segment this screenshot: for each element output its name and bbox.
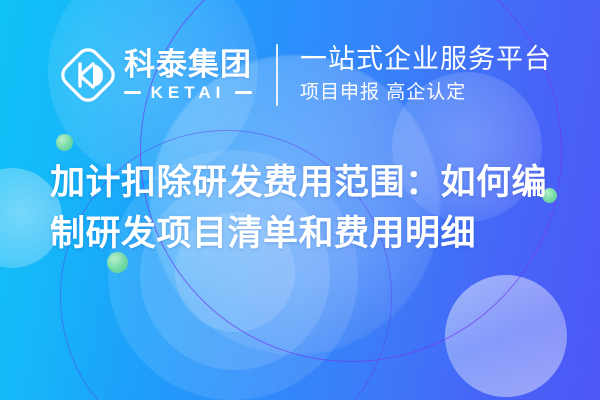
tagline-main: 一站式企业服务平台: [300, 44, 552, 76]
banner-header: 科泰集团 KETAI 一站式企业服务平台 项目申报 高企认定: [58, 44, 552, 106]
decorative-circle-bottom-right: [445, 275, 567, 397]
brand-name-en: KETAI: [146, 84, 230, 101]
promo-banner: 科泰集团 KETAI 一站式企业服务平台 项目申报 高企认定 加计扣除研发费用范…: [0, 0, 600, 400]
brand-name-cn: 科泰集团: [124, 49, 252, 82]
brand-name-en-row: KETAI: [124, 84, 252, 101]
tagline-block: 一站式企业服务平台 项目申报 高企认定: [300, 44, 552, 106]
brand-dash-right-icon: [235, 91, 252, 94]
banner-title: 加计扣除研发费用范围：如何编制研发项目清单和费用明细: [50, 158, 570, 260]
brand-logo: 科泰集团 KETAI: [58, 45, 252, 105]
brand-wordmark: 科泰集团 KETAI: [124, 49, 252, 102]
header-divider: [276, 44, 278, 106]
ketai-diamond-kd-logo-icon: [58, 45, 118, 105]
decorative-dot-green-1: [56, 134, 73, 151]
brand-dash-left-icon: [124, 91, 141, 94]
tagline-sub: 项目申报 高企认定: [300, 81, 552, 106]
